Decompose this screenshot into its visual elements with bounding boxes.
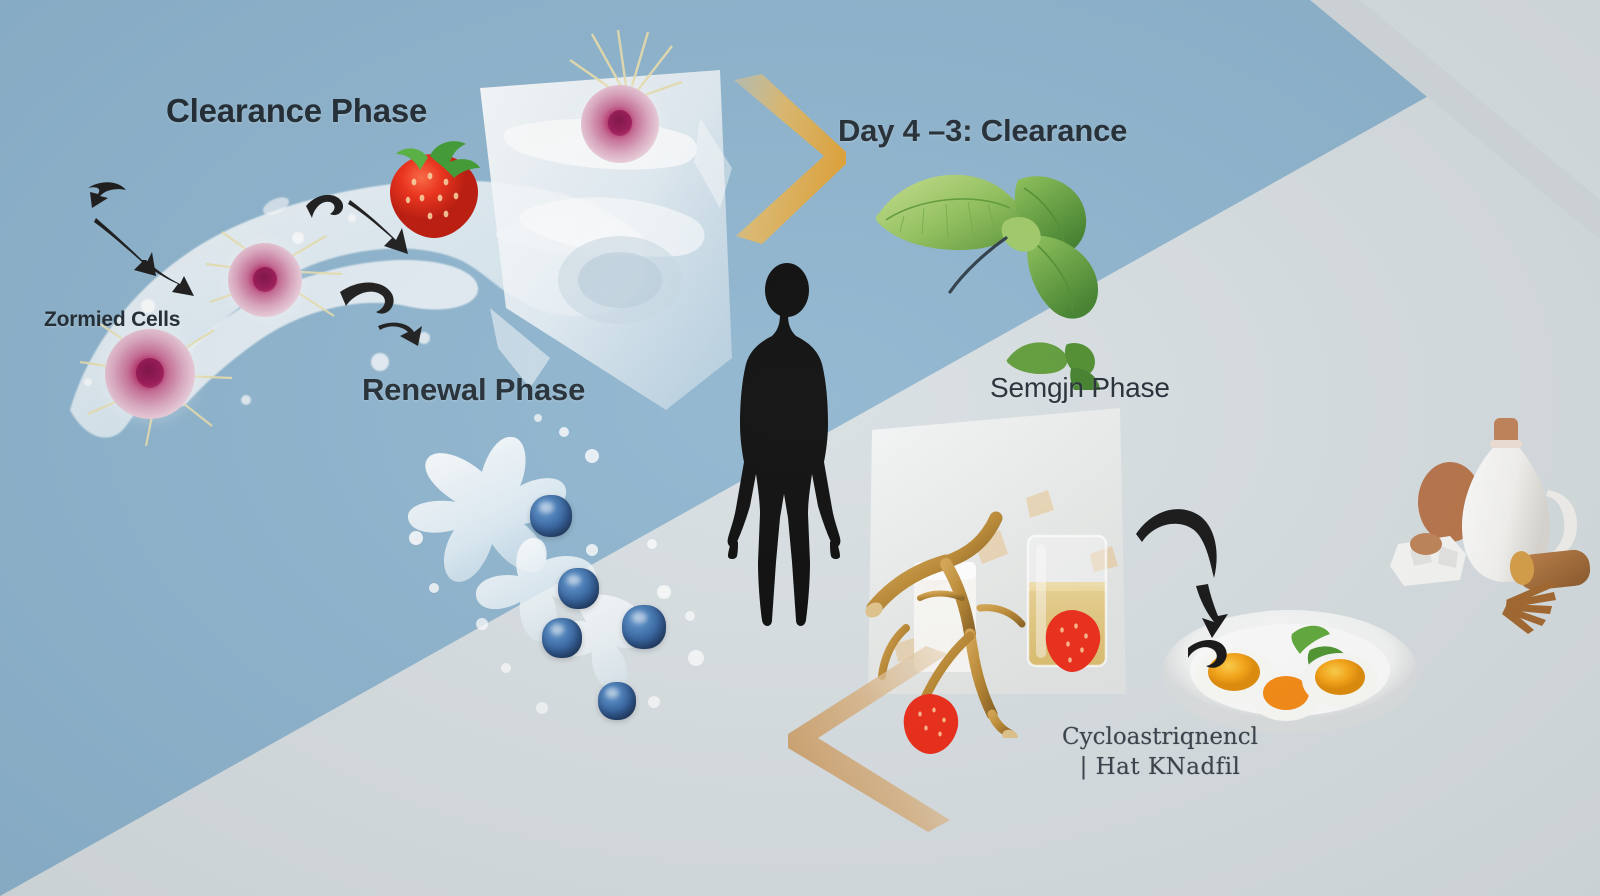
strawberry-in-glass	[1038, 604, 1108, 674]
label-day-range: Day 4 –3: Clearance	[838, 113, 1127, 149]
blueberry-1	[530, 495, 572, 537]
blueberry-3	[542, 618, 582, 658]
garbled-caption-line-1: Cycloastriqnencl	[1040, 722, 1280, 752]
label-zombied-cells: Zormied Cells	[44, 308, 180, 332]
garbled-caption: Cycloastriqnencl | Hat KNadfil	[1040, 722, 1280, 783]
blueberry-5	[598, 682, 636, 720]
chevron-right-gold-icon	[728, 72, 858, 252]
senescent-cell-upper-right	[581, 85, 659, 163]
label-semgjn-phase: Semgjn Phase	[990, 372, 1170, 404]
blueberry-2	[558, 568, 599, 609]
garbled-caption-line-2: | Hat KNadfil	[1040, 752, 1280, 782]
chevron-left-tan-icon	[778, 640, 958, 840]
infographic-canvas: Clearance Phase Day 4 –3: Clearance Rene…	[0, 0, 1600, 896]
mint-leaves	[860, 150, 1130, 390]
label-clearance-phase: Clearance Phase	[166, 92, 427, 130]
ceramic-jug-and-spices	[1380, 404, 1600, 644]
blueberry-4	[622, 605, 666, 649]
ink-arrow-group-renewal	[1118, 488, 1278, 668]
label-renewal-phase: Renewal Phase	[362, 372, 585, 408]
